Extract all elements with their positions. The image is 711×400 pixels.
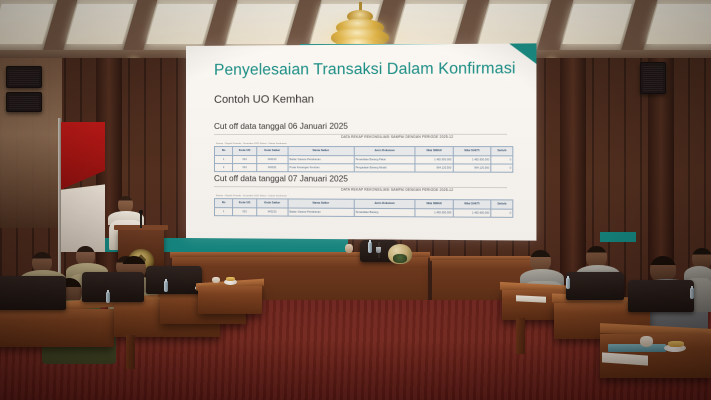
table-row: 2012643211Pusat Keuangan KemhanPengadaan… xyxy=(214,164,512,173)
reconciliation-table-1: NoKode UOKode SatkerNama SatkerJenis Dok… xyxy=(214,146,513,173)
audience-seat xyxy=(566,272,624,300)
reconciliation-table-2: NoKode UOKode SatkerNama SatkerJenis Dok… xyxy=(214,198,513,218)
microphone-icon xyxy=(140,212,142,228)
table-column-header: Kode Satker xyxy=(256,199,288,208)
cutoff-label-2: Cut off data tanggal 07 Januari 2025 xyxy=(214,174,348,183)
wall-speaker-icon xyxy=(6,66,42,88)
audience-seat xyxy=(146,266,202,294)
water-bottle xyxy=(164,281,168,292)
conference-hall-photo: Penyelesaian Transaksi Dalam Konfirmasi … xyxy=(0,0,711,400)
coffee-cup xyxy=(212,277,220,283)
table-cell: 964.120.500 xyxy=(415,164,453,172)
table-column-header: No xyxy=(214,147,232,156)
table-cell: 1.482.650.000 xyxy=(453,156,491,164)
slide-subtitle: Contoh UO Kemhan xyxy=(214,94,314,106)
snack xyxy=(226,277,235,281)
table-column-header: Kode UO xyxy=(233,147,257,156)
ceiling-light-panel xyxy=(562,4,631,44)
table-header-row-1: NoKode UOKode SatkerNama SatkerJenis Dok… xyxy=(214,147,512,156)
table-cell: 2 xyxy=(214,164,232,172)
table-cell: 1 xyxy=(214,156,232,164)
table-cell: 643211 xyxy=(256,164,288,172)
table-note-2: Satuan : Rupiah Periode : Desember 2025 … xyxy=(216,195,287,197)
audience-seat xyxy=(0,276,66,310)
table-cell: Persediaan Barang Pakai xyxy=(354,156,415,164)
drinking-glass xyxy=(376,247,381,253)
table-column-header: Nilai SIMAK xyxy=(415,200,453,209)
table-cell: 012 xyxy=(233,156,257,164)
table-cell: 964.120.500 xyxy=(453,164,491,172)
table-column-header: Nilai SIMAK xyxy=(415,147,453,156)
desk-leg xyxy=(126,335,135,369)
water-bottle xyxy=(368,242,372,253)
table-column-header: Nama Satker xyxy=(288,147,354,156)
table-row: 1012643210Badan Sarana PertahananPersedi… xyxy=(214,208,512,218)
table-column-header: Selisih xyxy=(491,200,513,209)
table-mat xyxy=(608,344,666,352)
flower-arrangement xyxy=(388,244,412,264)
table-cell: 012 xyxy=(233,208,257,216)
coffee-cup xyxy=(640,336,653,347)
table-cell: Pengadaan Barang Modal xyxy=(354,164,415,172)
table-column-header: Jenis Dokumen xyxy=(354,147,415,156)
decorative-vase xyxy=(345,244,353,253)
wall-speaker-icon xyxy=(640,62,666,94)
table-column-header: Kode Satker xyxy=(256,147,288,156)
table-cell: 1 xyxy=(214,208,232,216)
ceiling-light-panel xyxy=(646,4,711,44)
table-column-header: Nama Satker xyxy=(288,199,354,208)
water-bottle xyxy=(106,292,110,303)
desk-leg xyxy=(516,318,525,354)
table-note-1: Satuan : Rupiah Periode : Desember 2025 … xyxy=(216,143,287,145)
table-cell: 012 xyxy=(233,164,257,172)
ceiling-light-panel xyxy=(226,4,295,44)
table-column-header: Jenis Dokumen xyxy=(354,199,415,208)
audience-seat xyxy=(82,272,144,302)
audience-desk xyxy=(0,309,114,347)
table-column-header: Nilai SAKTI xyxy=(453,200,491,209)
table-caption-1: DATA REKAP REKONSILIASI SAMPAI DENGAN PE… xyxy=(295,135,501,139)
backdrop-teal-band-right xyxy=(600,232,636,242)
snack xyxy=(668,341,684,347)
audience-seat xyxy=(628,280,694,312)
table-cell: 0 xyxy=(491,164,513,172)
water-bottle xyxy=(566,278,570,289)
audience-desk xyxy=(198,286,262,314)
table-column-header: Kode UO xyxy=(233,199,257,208)
table-column-header: Nilai SAKTI xyxy=(453,147,491,156)
ceiling-light-panel xyxy=(478,4,547,44)
table-caption-2: DATA REKAP REKONSILIASI SAMPAI DENGAN PE… xyxy=(295,187,501,192)
table-cell: Persediaan Barang xyxy=(354,208,415,216)
slide-title: Penyelesaian Transaksi Dalam Konfirmasi xyxy=(214,60,516,80)
projection-screen: Penyelesaian Transaksi Dalam Konfirmasi … xyxy=(186,43,536,240)
table-cell: Pusat Keuangan Kemhan xyxy=(288,164,354,172)
table-cell: 0 xyxy=(491,156,513,164)
table-cell: 1.482.650.000 xyxy=(415,156,453,164)
ceiling-light-panel xyxy=(146,4,213,44)
table-cell: 1.482.650.000 xyxy=(415,209,453,217)
ceiling-light-panel xyxy=(66,4,133,44)
table-cell: Badan Sarana Pertahanan xyxy=(288,208,354,216)
flag-red-stripe xyxy=(61,122,105,190)
water-bottle xyxy=(690,288,694,299)
table-cell: 643210 xyxy=(256,208,288,216)
flag-cloth xyxy=(61,122,105,252)
table-column-header: Selisih xyxy=(491,147,513,156)
table-column-header: No xyxy=(214,199,232,208)
table-cell: 0 xyxy=(491,209,513,217)
wall-pillar xyxy=(560,58,586,288)
table-cell: 1.482.650.000 xyxy=(453,209,491,217)
table-cell: 643210 xyxy=(256,156,288,164)
wall-speaker-icon xyxy=(6,92,42,112)
table-cell: Badan Sarana Pertahanan xyxy=(288,156,354,164)
cutoff-label-1: Cut off data tanggal 06 Januari 2025 xyxy=(214,122,348,131)
flag-white-stripe xyxy=(61,184,105,252)
